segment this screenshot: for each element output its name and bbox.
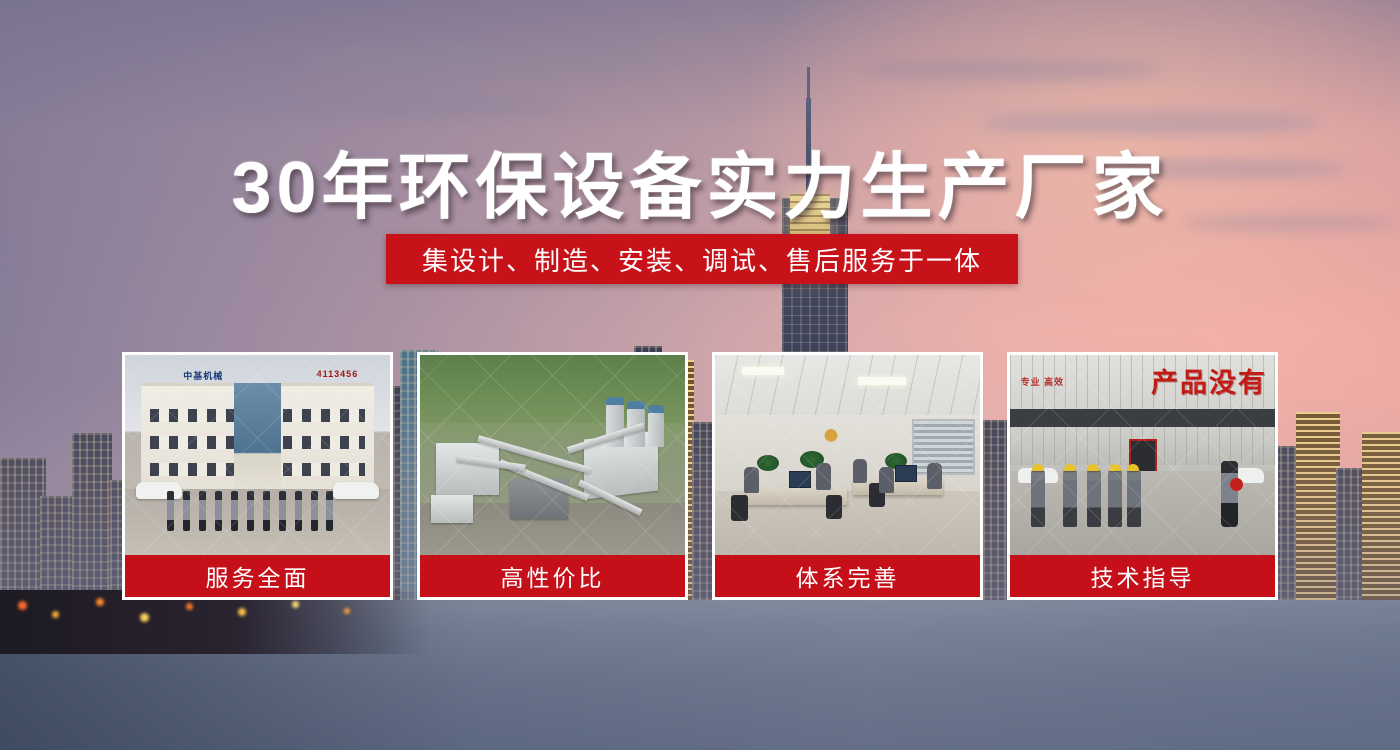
green-fields <box>420 355 685 423</box>
factory-slogan-large: 产品没有 <box>1151 361 1267 400</box>
wall-band <box>1010 409 1275 427</box>
staff-person <box>167 491 174 531</box>
factory-slogan-small: 专业 高效 <box>1021 375 1065 388</box>
worker <box>1087 469 1101 527</box>
silo-cap <box>648 405 664 413</box>
wall-logo <box>816 421 846 445</box>
photo-scene <box>715 355 980 555</box>
shore-light <box>18 601 27 610</box>
window-blinds <box>912 419 974 475</box>
worker <box>1127 469 1141 527</box>
card-label: 技术指导 <box>1007 555 1278 600</box>
silo <box>648 411 664 447</box>
lit-building <box>1362 432 1400 608</box>
aerial-plant-photo <box>417 352 688 555</box>
plant-building <box>436 443 500 495</box>
feature-card[interactable]: 产品没有 专业 高效 <box>1007 352 1278 606</box>
hard-hat <box>1127 464 1139 471</box>
company-phone-text: 4113456 <box>317 369 359 379</box>
office-chair <box>731 495 748 521</box>
photo-scene: 中基机械 4113456 <box>125 355 390 555</box>
computer-monitor <box>895 465 917 482</box>
shore-light <box>238 608 246 616</box>
plant-building <box>431 495 473 523</box>
worker <box>1108 469 1122 527</box>
feature-card[interactable]: 体系完善 <box>712 352 983 606</box>
shore-light <box>52 611 59 618</box>
office-worker <box>816 463 831 490</box>
office-worker <box>879 467 894 493</box>
staff-person <box>311 491 318 531</box>
card-label-text: 体系完善 <box>796 559 900 593</box>
promo-banner-stage: 30年环保设备实力生产厂家 集设计、制造、安装、调试、售后服务于一体 <box>0 0 1400 750</box>
workers-factory-photo: 产品没有 专业 高效 <box>1007 352 1278 555</box>
lit-building <box>1296 412 1340 608</box>
subtitle-banner: 集设计、制造、安装、调试、售后服务于一体 <box>386 234 1018 284</box>
computer-monitor <box>789 471 811 488</box>
feature-card[interactable]: 中基机械 4113456 服务全面 <box>122 352 393 606</box>
office-worker <box>853 459 867 483</box>
feature-card-list: 中基机械 4113456 服务全面 <box>122 352 1278 606</box>
office-interior-photo <box>712 352 983 555</box>
worker <box>1063 469 1077 527</box>
hard-hat <box>1064 464 1076 471</box>
company-building-staff-photo: 中基机械 4113456 <box>122 352 393 555</box>
supervisor <box>1221 461 1238 527</box>
staff-person <box>295 491 302 531</box>
photo-scene <box>420 355 685 555</box>
silo-cap <box>627 401 646 409</box>
silo-cap <box>606 397 625 405</box>
feature-card[interactable]: 高性价比 <box>417 352 688 606</box>
staff-person <box>263 491 270 531</box>
shore-light <box>140 613 149 622</box>
worker <box>1031 469 1045 527</box>
staff-person <box>326 491 333 531</box>
ceiling-light <box>858 377 906 385</box>
shore-light <box>96 598 104 606</box>
building-entrance <box>234 383 282 499</box>
hard-hat <box>1032 464 1044 471</box>
parked-car <box>136 482 182 499</box>
office-worker <box>744 467 759 493</box>
cloud-6 <box>300 45 660 75</box>
staff-person <box>231 491 238 531</box>
staff-person <box>183 491 190 531</box>
subtitle-text: 集设计、制造、安装、调试、售后服务于一体 <box>422 241 982 278</box>
staff-person <box>199 491 206 531</box>
staff-person <box>215 491 222 531</box>
ceiling-grid <box>715 355 980 415</box>
building <box>72 433 112 608</box>
staff-person <box>247 491 254 531</box>
office-chair <box>826 495 842 519</box>
staff-person <box>279 491 286 531</box>
hard-hat <box>1087 464 1099 471</box>
hard-hat <box>1109 464 1121 471</box>
company-sign-text: 中基机械 <box>183 369 223 382</box>
card-label: 服务全面 <box>122 555 393 600</box>
office-worker <box>927 463 942 489</box>
cloud-3 <box>860 60 1160 80</box>
card-label-text: 技术指导 <box>1091 559 1195 593</box>
cloud-5 <box>150 95 570 117</box>
parked-car <box>333 482 379 499</box>
page-title: 30年环保设备实力生产厂家 <box>0 128 1400 233</box>
card-label-text: 服务全面 <box>206 559 310 593</box>
skyscraper-antenna <box>807 67 810 103</box>
card-label: 高性价比 <box>417 555 688 600</box>
photo-scene: 产品没有 专业 高效 <box>1010 355 1275 555</box>
card-label: 体系完善 <box>712 555 983 600</box>
card-label-text: 高性价比 <box>501 559 605 593</box>
ceiling-light <box>742 367 784 375</box>
shore-light <box>344 608 350 614</box>
